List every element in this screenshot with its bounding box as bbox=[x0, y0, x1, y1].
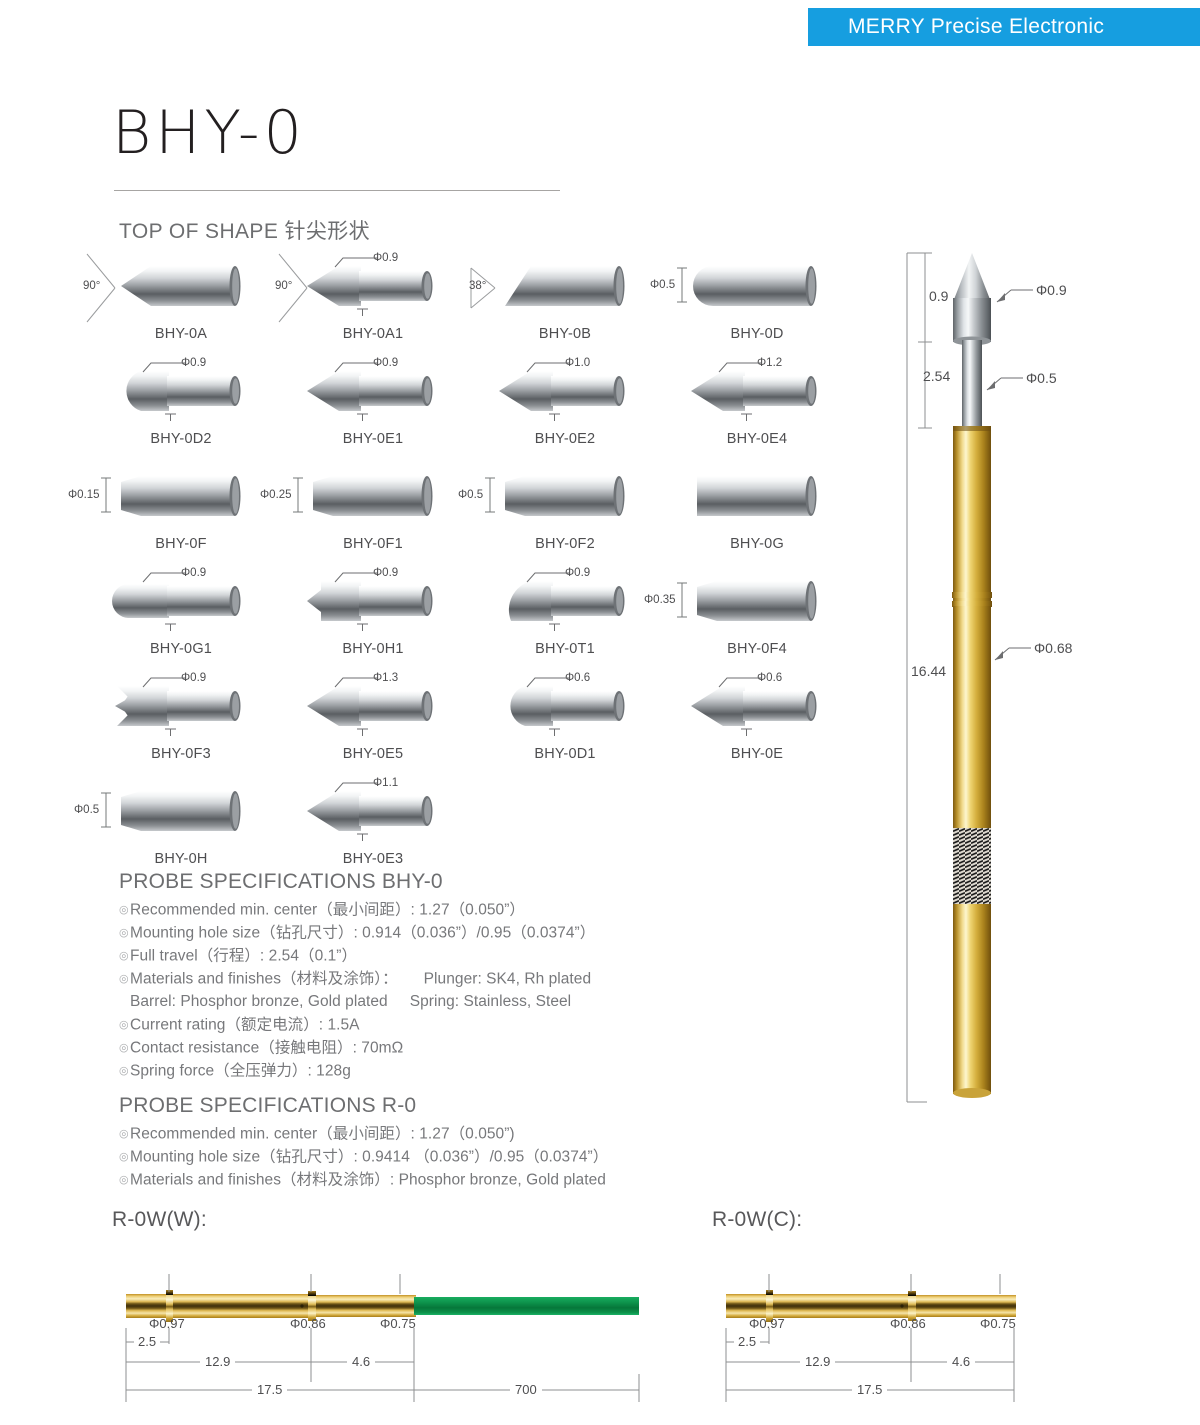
dim-total-value: 16.44 bbox=[911, 663, 946, 679]
len-label-3: 17.5 bbox=[252, 1382, 287, 1397]
bullet-icon: ◎ bbox=[119, 968, 130, 991]
len-label-2: 4.6 bbox=[947, 1354, 975, 1369]
bullet-icon: ◎ bbox=[119, 1146, 130, 1169]
diagram-r0w-w: R-0W(W): bbox=[112, 1208, 672, 1232]
tip-shape-cell: Φ0.35BHY-0F4 bbox=[661, 567, 853, 672]
tip-shape-illustration: Φ0.15 bbox=[85, 462, 277, 534]
r0w-w-svg bbox=[112, 1250, 672, 1425]
bullet-icon: ◎ bbox=[119, 945, 130, 968]
diagram-title-r0w-w: R-0W(W): bbox=[112, 1208, 672, 1232]
tip-profile-drawing bbox=[491, 258, 641, 325]
tip-shape-cell: Φ1.2 BHY-0E4 bbox=[661, 357, 853, 462]
spec-block-r0: PROBE SPECIFICATIONS R-0 ◎Recommended mi… bbox=[119, 1094, 608, 1192]
probe-barrel-tail bbox=[953, 904, 991, 1094]
tip-shape-illustration: Φ0.6 bbox=[469, 672, 661, 744]
leader-plunger bbox=[987, 378, 1023, 390]
tip-shape-illustration: Φ0.9 bbox=[85, 357, 277, 429]
tip-shape-illustration: 38° bbox=[469, 252, 661, 324]
tip-shape-grid: 90°BHY-0A Φ0.9 bbox=[85, 252, 875, 882]
tip-shape-illustration: Φ0.9 bbox=[277, 567, 469, 639]
tip-profile-drawing bbox=[299, 468, 449, 535]
tip-shape-illustration: Φ0.5 bbox=[469, 462, 661, 534]
diagram-title-r0w-c: R-0W(C): bbox=[712, 1208, 1112, 1232]
dia-label-0: Φ0.97 bbox=[749, 1316, 785, 1331]
tip-dimension-value: Φ0.5 bbox=[649, 279, 676, 291]
tip-dimension-value: Φ0.35 bbox=[643, 594, 677, 606]
spec-item: ◎Spring force（全压弹力）: 128g bbox=[119, 1060, 595, 1083]
tip-shape-cell: Φ0.9 BHY-0G1 bbox=[85, 567, 277, 672]
tip-shape-illustration: Φ0.5 bbox=[85, 777, 277, 849]
material-spring: Spring: Stainless, Steel bbox=[410, 993, 571, 1010]
tip-shape-cell: Φ0.5BHY-0F2 bbox=[469, 462, 661, 567]
tip-shape-label: BHY-0H bbox=[85, 851, 277, 867]
tip-shape-cell: Φ0.9 BHY-0E1 bbox=[277, 357, 469, 462]
tip-shape-label: BHY-0A1 bbox=[277, 326, 469, 342]
tip-shape-illustration: Φ0.9 bbox=[85, 672, 277, 744]
tip-shape-label: BHY-0E bbox=[661, 746, 853, 762]
tip-shape-cell: Φ1.1 BHY-0E3 bbox=[277, 777, 469, 882]
tip-shape-cell: 38°BHY-0B bbox=[469, 252, 661, 357]
spec-item: ◎Recommended min. center（最小间距）: 1.27（0.0… bbox=[119, 899, 595, 922]
r0w-c-svg bbox=[712, 1250, 1112, 1425]
tip-shape-label: BHY-0F2 bbox=[469, 536, 661, 552]
spec-item: ◎Mounting hole size（钻孔尺寸）: 0.9414 （0.036… bbox=[119, 1146, 608, 1169]
tip-shape-illustration: Φ1.0 bbox=[469, 357, 661, 429]
probe-head-cylinder bbox=[953, 298, 991, 342]
section-subtitle: TOP OF SHAPE 针尖形状 bbox=[119, 215, 370, 245]
tip-shape-illustration: Φ0.9 90° bbox=[277, 252, 469, 324]
spec-heading-r0: PROBE SPECIFICATIONS R-0 bbox=[119, 1094, 608, 1118]
dim-travel-value: 2.54 bbox=[923, 368, 950, 384]
tip-shape-label: BHY-0E1 bbox=[277, 431, 469, 447]
tip-shape-label: BHY-0H1 bbox=[277, 641, 469, 657]
tip-shape-label: BHY-0E3 bbox=[277, 851, 469, 867]
tip-shape-cell: Φ0.9 BHY-0H1 bbox=[277, 567, 469, 672]
tip-angle-value: 90° bbox=[275, 280, 292, 292]
spec-item: ◎Current rating（额定电流）: 1.5A bbox=[119, 1014, 595, 1037]
tip-shape-illustration: Φ0.9 bbox=[277, 357, 469, 429]
tip-shape-label: BHY-0F3 bbox=[85, 746, 277, 762]
tip-shape-cell: 90°BHY-0A bbox=[85, 252, 277, 357]
tip-shape-label: BHY-0D bbox=[661, 326, 853, 342]
probe-crimp-ring-1 bbox=[952, 592, 992, 598]
tip-shape-cell: Φ0.15BHY-0F bbox=[85, 462, 277, 567]
tip-shape-row: Φ0.5BHY-0H Φ1.1 BHY-0E3 bbox=[85, 777, 875, 882]
tip-shape-cell: Φ1.3 BHY-0E5 bbox=[277, 672, 469, 777]
tip-shape-label: BHY-0A bbox=[85, 326, 277, 342]
receptacle-body-b bbox=[916, 1295, 1016, 1317]
probe-knurl-section bbox=[953, 828, 991, 906]
probe-barrel-lower bbox=[953, 606, 991, 828]
tip-dimension-value: Φ0.5 bbox=[73, 804, 100, 816]
tip-shape-cell: Φ0.9 BHY-0T1 bbox=[469, 567, 661, 672]
spec-heading-bhy0: PROBE SPECIFICATIONS BHY-0 bbox=[119, 870, 595, 894]
page-title: BHY-0 bbox=[112, 103, 306, 163]
leader-barrel bbox=[995, 648, 1031, 660]
dia-label-1: Φ0.86 bbox=[890, 1316, 926, 1331]
diagram-r0w-c: R-0W(C): Φ0.97 Φ0.86 Φ0.75 2.5 12.9 4.6 … bbox=[712, 1208, 1112, 1232]
tip-shape-cell: Φ0.6 BHY-0D1 bbox=[469, 672, 661, 777]
tip-shape-illustration: Φ1.1 bbox=[277, 777, 469, 849]
material-plunger: Plunger: SK4, Rh plated bbox=[424, 971, 591, 988]
spec-item-materials: ◎Materials and finishes（材料及涂饰）：Plunger: … bbox=[119, 968, 595, 991]
spec-item: ◎Contact resistance（接触电阻）: 70mΩ bbox=[119, 1037, 595, 1060]
tip-dimension-value: Φ0.15 bbox=[67, 489, 101, 501]
leader-head bbox=[997, 290, 1033, 302]
spec-block-bhy0: PROBE SPECIFICATIONS BHY-0 ◎Recommended … bbox=[119, 870, 595, 1083]
dia-label-2: Φ0.75 bbox=[980, 1316, 1016, 1331]
probe-tail-end bbox=[953, 1088, 991, 1098]
dia-label-2: Φ0.75 bbox=[380, 1316, 416, 1331]
tip-shape-row: Φ0.9 BHY-0G1 Φ0.9 bbox=[85, 567, 875, 672]
len-label-4: 700 bbox=[510, 1382, 542, 1397]
tip-profile-drawing bbox=[107, 258, 257, 325]
tip-shape-label: BHY-0F1 bbox=[277, 536, 469, 552]
tip-profile-drawing bbox=[107, 468, 257, 535]
tip-shape-cell: Φ1.0 BHY-0E2 bbox=[469, 357, 661, 462]
tip-angle-value: 38° bbox=[469, 280, 486, 292]
receptacle-body-a bbox=[726, 1294, 908, 1318]
tip-shape-row: Φ0.9 BHY-0F3 Φ1.3 bbox=[85, 672, 875, 777]
tip-shape-cell: Φ0.5BHY-0H bbox=[85, 777, 277, 882]
len-label-2: 4.6 bbox=[347, 1354, 375, 1369]
tip-shape-cell: Φ0.9 BHY-0F3 bbox=[85, 672, 277, 777]
tip-shape-cell: Φ0.9 90°BHY-0A1 bbox=[277, 252, 469, 357]
tip-shape-cell: Φ0.25BHY-0F1 bbox=[277, 462, 469, 567]
tip-shape-illustration: Φ0.25 bbox=[277, 462, 469, 534]
title-divider bbox=[114, 190, 560, 191]
tip-shape-label: BHY-0F bbox=[85, 536, 277, 552]
tip-shape-illustration: Φ0.9 bbox=[85, 567, 277, 639]
tip-shape-label: BHY-0T1 bbox=[469, 641, 661, 657]
tip-profile-drawing bbox=[107, 783, 257, 850]
tip-shape-illustration: 90° bbox=[85, 252, 277, 324]
len-label-1: 12.9 bbox=[200, 1354, 235, 1369]
spec-item: ◎Mounting hole size（钻孔尺寸）: 0.914（0.036”）… bbox=[119, 922, 595, 945]
tip-shape-illustration: Φ0.9 bbox=[469, 567, 661, 639]
callout-plunger-diameter: Φ0.5 bbox=[1026, 370, 1057, 386]
receptacle-body-b bbox=[316, 1295, 416, 1317]
probe-barrel-upper bbox=[953, 426, 991, 606]
material-barrel: Barrel: Phosphor bronze, Gold plated bbox=[130, 993, 388, 1010]
tip-shape-label: BHY-0G1 bbox=[85, 641, 277, 657]
header-banner: MERRY Precise Electronic bbox=[808, 8, 1200, 46]
callout-head-diameter: Φ0.9 bbox=[1036, 282, 1067, 298]
tip-dimension-value: Φ0.25 bbox=[259, 489, 293, 501]
tip-profile-drawing bbox=[683, 258, 833, 325]
tip-angle-value: 90° bbox=[83, 280, 100, 292]
tip-shape-illustration: Φ0.35 bbox=[661, 567, 853, 639]
tip-shape-row: Φ0.9 BHY-0D2 Φ0.9 bbox=[85, 357, 875, 462]
len-label-3: 17.5 bbox=[852, 1382, 887, 1397]
receptacle-body-a bbox=[126, 1294, 308, 1318]
tip-shape-label: BHY-0F4 bbox=[661, 641, 853, 657]
tip-shape-illustration: Φ1.2 bbox=[661, 357, 853, 429]
tip-shape-illustration bbox=[661, 462, 853, 534]
probe-plunger-shaft bbox=[962, 340, 982, 428]
bullet-icon: ◎ bbox=[119, 922, 130, 945]
tip-shape-row: 90°BHY-0A Φ0.9 bbox=[85, 252, 875, 357]
tip-shape-cell: Φ0.6 BHY-0E bbox=[661, 672, 853, 777]
tip-shape-illustration: Φ0.6 bbox=[661, 672, 853, 744]
len-label-0: 2.5 bbox=[134, 1334, 160, 1349]
tip-profile-drawing bbox=[683, 573, 833, 640]
spec-item-materials-2: Barrel: Phosphor bronze, Gold platedSpri… bbox=[119, 991, 595, 1014]
bullet-icon: ◎ bbox=[119, 1060, 130, 1083]
tip-shape-label: BHY-0B bbox=[469, 326, 661, 342]
tip-profile-drawing bbox=[491, 468, 641, 535]
dia-label-1: Φ0.86 bbox=[290, 1316, 326, 1331]
dia-label-0: Φ0.97 bbox=[149, 1316, 185, 1331]
tip-shape-cell: Φ0.9 BHY-0D2 bbox=[85, 357, 277, 462]
bullet-icon: ◎ bbox=[119, 1123, 130, 1146]
tip-shape-illustration: Φ1.3 bbox=[277, 672, 469, 744]
tip-shape-label: BHY-0E2 bbox=[469, 431, 661, 447]
brand-name: MERRY Precise Electronic bbox=[848, 15, 1104, 39]
tip-shape-label: BHY-0G bbox=[661, 536, 853, 552]
tip-shape-label: BHY-0E4 bbox=[661, 431, 853, 447]
tip-shape-label: BHY-0D2 bbox=[85, 431, 277, 447]
probe-assembly-drawing: 0.9 2.54 16.44 Φ0.9 Φ0.5 Φ0.68 bbox=[905, 240, 1135, 1120]
tip-shape-label: BHY-0E5 bbox=[277, 746, 469, 762]
tip-shape-cell: BHY-0G bbox=[661, 462, 853, 567]
len-label-0: 2.5 bbox=[734, 1334, 760, 1349]
wire-green bbox=[414, 1297, 639, 1315]
probe-tip-cone bbox=[953, 253, 991, 302]
bullet-icon: ◎ bbox=[119, 1037, 130, 1060]
tip-dimension-value: Φ0.5 bbox=[457, 489, 484, 501]
tip-profile-drawing bbox=[683, 468, 833, 535]
bullet-icon: ◎ bbox=[119, 1014, 130, 1037]
spec-item: ◎Recommended min. center（最小间距）: 1.27（0.0… bbox=[119, 1123, 608, 1146]
tip-shape-cell: Φ0.5BHY-0D bbox=[661, 252, 853, 357]
dim-head-value: 0.9 bbox=[929, 288, 948, 304]
len-label-1: 12.9 bbox=[800, 1354, 835, 1369]
tip-shape-label: BHY-0D1 bbox=[469, 746, 661, 762]
tip-shape-row: Φ0.15BHY-0F Φ0.25BHY-0F1 bbox=[85, 462, 875, 567]
tip-shape-illustration: Φ0.5 bbox=[661, 252, 853, 324]
bullet-icon: ◎ bbox=[119, 899, 130, 922]
spec-item: ◎Materials and finishes（材料及涂饰）: Phosphor… bbox=[119, 1169, 608, 1192]
callout-barrel-diameter: Φ0.68 bbox=[1034, 640, 1072, 656]
spec-item: ◎Full travel（行程）: 2.54（0.1”） bbox=[119, 945, 595, 968]
bullet-icon: ◎ bbox=[119, 1169, 130, 1192]
